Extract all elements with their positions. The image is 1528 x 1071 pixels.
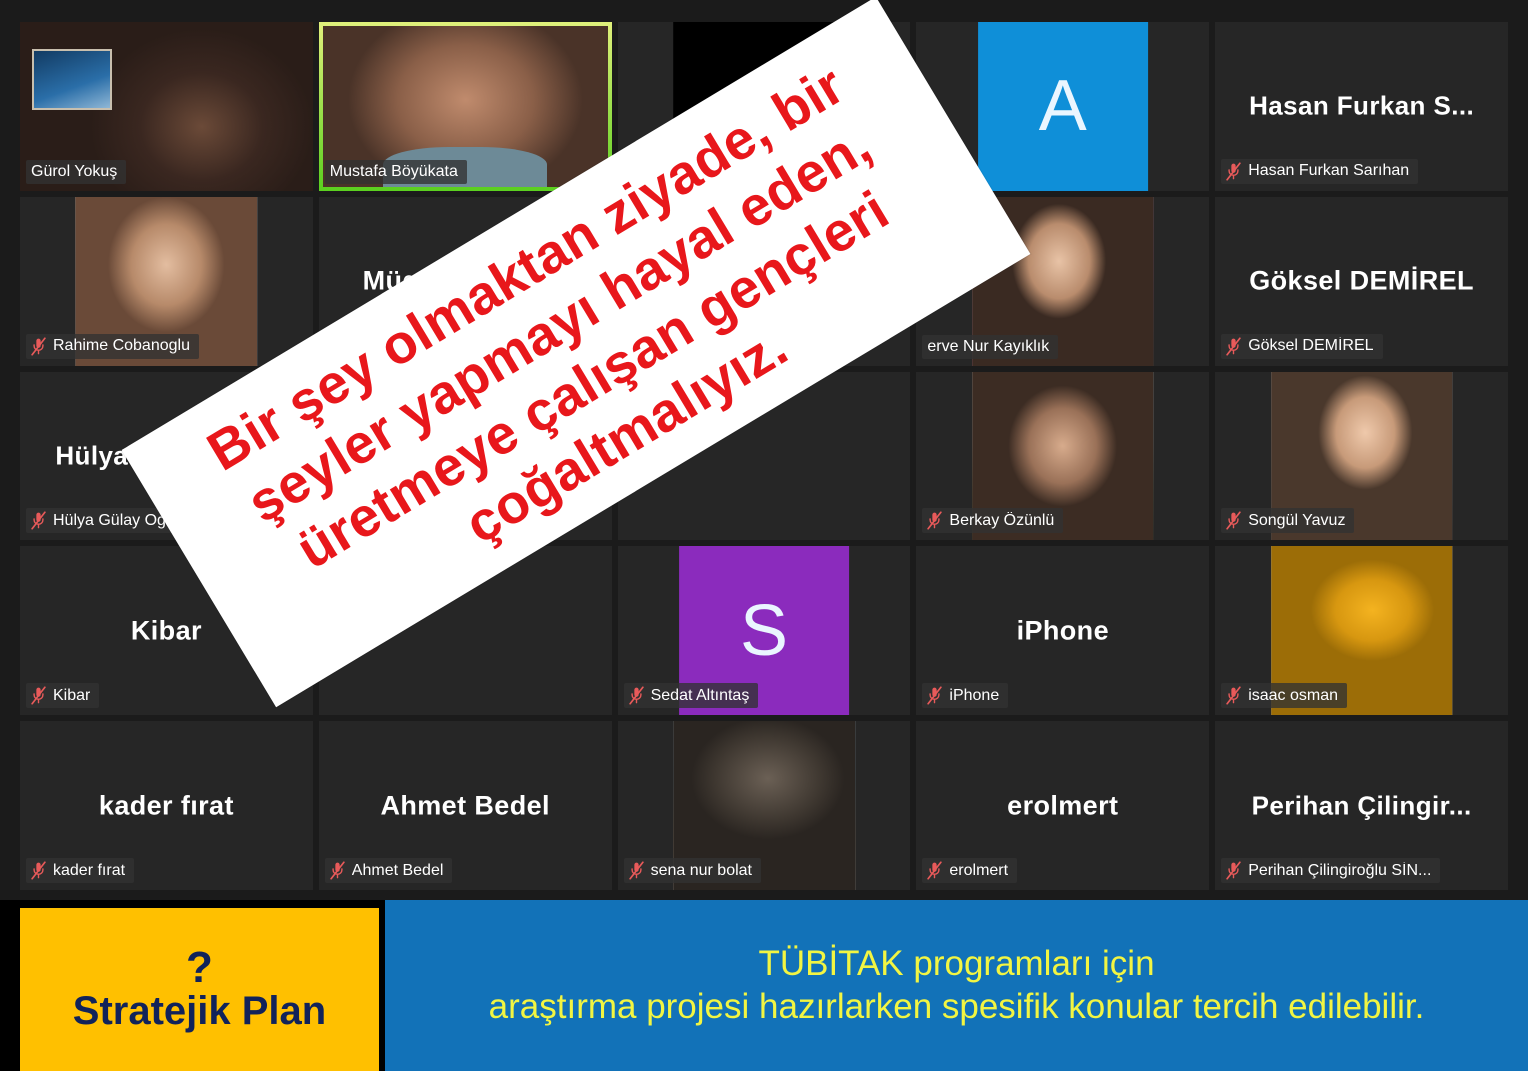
participant-display-name-iphone: iPhone xyxy=(916,615,1209,646)
mic-muted-icon xyxy=(31,686,46,705)
participant-tile-kader-firat[interactable]: kader fıratkader fırat xyxy=(20,721,313,890)
mic-muted-icon xyxy=(1226,686,1241,705)
mic-muted-icon xyxy=(1226,861,1241,880)
mic-muted-icon xyxy=(1226,162,1241,181)
participant-nameplate-sena-nur-bolat: sena nur bolat xyxy=(624,858,761,883)
participant-nameplate-label: iPhone xyxy=(949,687,999,705)
participant-display-name-kader-firat: kader fırat xyxy=(20,790,313,821)
participant-tile-rahime-cobanoglu[interactable]: Rahime Cobanoglu xyxy=(20,197,313,366)
participant-nameplate-sedat-altintas: Sedat Altıntaş xyxy=(624,683,759,708)
participant-nameplate-erolmert: erolmert xyxy=(922,858,1017,883)
participant-tile-hasan-furkan-sarihan[interactable]: Hasan Furkan S...Hasan Furkan Sarıhan xyxy=(1215,22,1508,191)
participant-nameplate-label: Göksel DEMİREL xyxy=(1248,337,1373,355)
participant-display-name-perihan-cilingiroglu: Perihan Çilingir... xyxy=(1215,790,1508,821)
participant-nameplate-goksel-demirel: Göksel DEMİREL xyxy=(1221,334,1382,359)
participant-nameplate-label: Kibar xyxy=(53,687,90,705)
participant-nameplate-kibar: Kibar xyxy=(26,683,99,708)
strategic-plan-card: ? Stratejik Plan xyxy=(20,908,379,1071)
mic-muted-icon xyxy=(330,861,345,880)
tubitak-note-line2: araştırma projesi hazırlarken spesifik k… xyxy=(489,986,1425,1029)
participant-tile-perihan-cilingiroglu[interactable]: Perihan Çilingir...Perihan Çilingiroğlu … xyxy=(1215,721,1508,890)
mic-muted-icon xyxy=(31,337,46,356)
participant-nameplate-label: Rahime Cobanoglu xyxy=(53,337,190,355)
participant-nameplate-gurol-yokus: Gürol Yokuş xyxy=(26,160,126,184)
participant-nameplate-ahmet-bedel: Ahmet Bedel xyxy=(325,858,453,883)
participant-display-name-ahmet-bedel: Ahmet Bedel xyxy=(319,790,612,821)
participant-display-name-goksel-demirel: Göksel DEMİREL xyxy=(1215,266,1508,297)
participant-tile-mustafa-boyukata[interactable]: Mustafa Böyükata xyxy=(319,22,612,191)
participant-display-name-hasan-furkan-sarihan: Hasan Furkan S... xyxy=(1215,91,1508,122)
question-mark-glyph: ? xyxy=(186,948,213,988)
participant-tile-sena-nur-bolat[interactable]: sena nur bolat xyxy=(618,721,911,890)
participant-nameplate-label: Hasan Furkan Sarıhan xyxy=(1248,162,1409,180)
participant-display-name-erolmert: erolmert xyxy=(916,790,1209,821)
participant-tile-berkay-ozunlu[interactable]: Berkay Özünlü xyxy=(916,372,1209,541)
participant-nameplate-iphone: iPhone xyxy=(922,683,1008,708)
participant-tile-isaac-osman[interactable]: isaac osman xyxy=(1215,546,1508,715)
participant-nameplate-kader-firat: kader fırat xyxy=(26,858,134,883)
mic-muted-icon xyxy=(927,686,942,705)
participant-tile-songul-yavuz[interactable]: Songül Yavuz xyxy=(1215,372,1508,541)
mic-muted-icon xyxy=(31,861,46,880)
participant-tile-goksel-demirel[interactable]: Göksel DEMİRELGöksel DEMİREL xyxy=(1215,197,1508,366)
participant-nameplate-label: erve Nur Kayıklık xyxy=(927,338,1049,356)
participant-nameplate-rahime-cobanoglu: Rahime Cobanoglu xyxy=(26,334,199,359)
participant-nameplate-label: erolmert xyxy=(949,862,1008,880)
participant-nameplate-label: kader fırat xyxy=(53,862,125,880)
participant-nameplate-label: Berkay Özünlü xyxy=(949,512,1054,530)
mic-muted-icon xyxy=(927,511,942,530)
participant-nameplate-hasan-furkan-sarihan: Hasan Furkan Sarıhan xyxy=(1221,159,1418,184)
mic-muted-icon xyxy=(1226,511,1241,530)
participant-nameplate-berkay-ozunlu: Berkay Özünlü xyxy=(922,508,1063,533)
tubitak-note-line1: TÜBİTAK programları için xyxy=(758,943,1154,986)
participant-nameplate-label: isaac osman xyxy=(1248,687,1338,705)
participant-tile-erolmert[interactable]: erolmerterolmert xyxy=(916,721,1209,890)
participant-nameplate-label: Perihan Çilingiroğlu SİN... xyxy=(1248,862,1431,880)
mic-muted-icon xyxy=(927,861,942,880)
participant-nameplate-isaac-osman: isaac osman xyxy=(1221,683,1347,708)
mic-muted-icon xyxy=(629,861,644,880)
participant-nameplate-merve-nur-kayiklik: erve Nur Kayıklık xyxy=(922,335,1058,359)
footer-bar: ? Stratejik Plan TÜBİTAK programları içi… xyxy=(0,900,1528,1071)
mic-muted-icon xyxy=(31,511,46,530)
participant-nameplate-label: Songül Yavuz xyxy=(1248,512,1345,530)
participant-tile-gurol-yokus[interactable]: Gürol Yokuş xyxy=(20,22,313,191)
participant-tile-sedat-altintas[interactable]: SSedat Altıntaş xyxy=(618,546,911,715)
mic-muted-icon xyxy=(629,686,644,705)
participant-nameplate-label: Mustafa Böyükata xyxy=(330,163,458,181)
tubitak-note-card: TÜBİTAK programları için araştırma proje… xyxy=(385,900,1528,1071)
mic-muted-icon xyxy=(1226,337,1241,356)
participant-tile-iphone[interactable]: iPhoneiPhone xyxy=(916,546,1209,715)
participant-tile-ahmet-bedel[interactable]: Ahmet BedelAhmet Bedel xyxy=(319,721,612,890)
strategic-plan-label: Stratejik Plan xyxy=(73,991,326,1031)
participant-avatar-maz: A xyxy=(978,22,1148,191)
participant-nameplate-label: Gürol Yokuş xyxy=(31,163,117,181)
participant-nameplate-songul-yavuz: Songül Yavuz xyxy=(1221,508,1354,533)
participant-nameplate-label: sena nur bolat xyxy=(651,862,752,880)
participant-nameplate-label: Ahmet Bedel xyxy=(352,862,444,880)
participant-nameplate-mustafa-boyukata: Mustafa Böyükata xyxy=(325,160,467,184)
participant-nameplate-label: Sedat Altıntaş xyxy=(651,687,750,705)
participant-nameplate-perihan-cilingiroglu: Perihan Çilingiroğlu SİN... xyxy=(1221,858,1440,883)
